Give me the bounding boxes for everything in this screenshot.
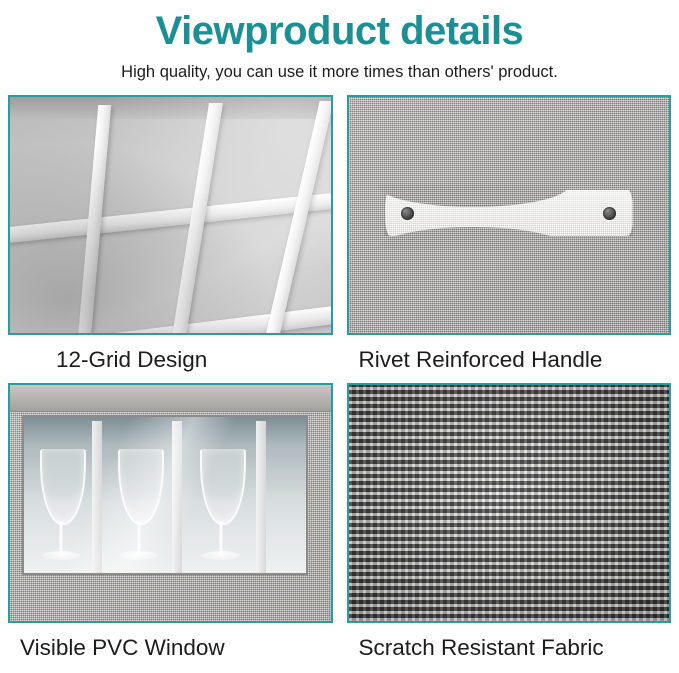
feature-card-12-grid-design: 12-Grid Design: [8, 95, 333, 379]
twelve-grid-divider-photo: [8, 95, 333, 335]
glass-stem: [219, 521, 223, 553]
rivet-right: [603, 207, 616, 220]
interior-divider-2: [172, 421, 182, 573]
rivet-reinforced-handle-photo: [347, 95, 672, 335]
photo-vignette-overlay: [349, 385, 670, 621]
glass-bowl: [118, 449, 164, 525]
visible-pvc-window-photo: [8, 383, 333, 623]
header: Viewproduct details High quality, you ca…: [0, 0, 679, 82]
wine-glass-1: [34, 427, 88, 567]
storage-box-with-window: [10, 385, 331, 621]
glass-foot: [202, 551, 240, 560]
feature-caption-scratch-resistant-fabric: Scratch Resistant Fabric: [347, 623, 672, 667]
page-subtitle: High quality, you can use it more times …: [0, 63, 679, 82]
divider-box-illustration: [10, 97, 331, 333]
glass-stem: [137, 521, 141, 553]
interior-divider-3: [256, 421, 266, 573]
feature-card-scratch-resistant-fabric: Scratch Resistant Fabric: [347, 383, 672, 667]
glass-foot: [120, 551, 158, 560]
pvc-window-panel: [22, 415, 308, 575]
glass-stem: [59, 521, 63, 553]
rivet-left: [401, 207, 414, 220]
glass-foot: [42, 551, 80, 560]
box-lid-edge: [10, 385, 331, 412]
feature-caption-rivet-handle: Rivet Reinforced Handle: [347, 335, 672, 379]
interior-divider-1: [92, 421, 102, 573]
feature-caption-pvc-window: Visible PVC Window: [8, 623, 333, 667]
feature-card-pvc-window: Visible PVC Window: [8, 383, 333, 667]
product-details-infographic: Viewproduct details High quality, you ca…: [0, 0, 679, 673]
scratch-resistant-fabric-photo: [347, 383, 672, 623]
glass-bowl: [200, 449, 246, 525]
feature-card-rivet-handle: Rivet Reinforced Handle: [347, 95, 672, 379]
feature-caption-12-grid-design: 12-Grid Design: [8, 335, 333, 379]
photo-shading-overlay: [10, 97, 331, 333]
feature-grid: 12-Grid Design Rivet Reinforced Handle: [0, 95, 679, 667]
wine-glass-3: [194, 427, 248, 567]
wine-glass-2: [112, 427, 166, 567]
page-title: Viewproduct details: [0, 8, 679, 54]
glass-bowl: [40, 449, 86, 525]
